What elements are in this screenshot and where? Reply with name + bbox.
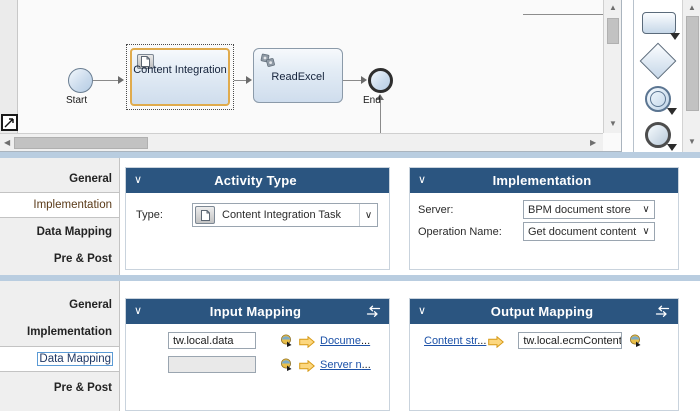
implementation-card-header[interactable]: ∨ Implementation	[410, 168, 678, 193]
diagram-canvas[interactable]: Start Content Integration	[18, 0, 603, 133]
operation-name-dropdown[interactable]: Get document content ∨	[523, 222, 655, 241]
implementation-title: Implementation	[434, 173, 650, 188]
chevron-down-icon[interactable]: ∨	[359, 204, 377, 226]
activity-type-card-header[interactable]: ∨ Activity Type	[126, 168, 389, 193]
output-mapping-row: Content str... tw.local.ecmContent	[424, 332, 644, 349]
chevron-down-icon[interactable]: ∨	[418, 175, 434, 186]
implementation-tab-list: General Implementation Data Mapping Pre …	[0, 158, 120, 275]
swap-arrows-icon[interactable]	[650, 305, 670, 318]
chevron-down-icon[interactable]: ∨	[134, 306, 150, 317]
diagram-canvas-container: Start Content Integration	[0, 0, 622, 152]
implementation-properties-panel: General Implementation Data Mapping Pre …	[0, 158, 700, 275]
palette-scrollbar[interactable]: ▲ ▼	[682, 0, 700, 152]
connector-ci-to-readexcel	[234, 80, 246, 81]
tab-pre-and-post[interactable]: Pre & Post	[0, 246, 119, 272]
tab-general[interactable]: General	[0, 166, 119, 192]
data-mapping-tab-list: General Implementation Data Mapping Pre …	[0, 281, 120, 411]
connector-arrow-readexcel	[246, 76, 252, 84]
connector-start-to-ci	[93, 80, 118, 81]
palette-gateway-shape[interactable]	[640, 43, 677, 80]
input-mapping-title: Input Mapping	[150, 304, 361, 319]
palette-task-caret-icon[interactable]	[670, 33, 680, 40]
palette-task-shape[interactable]	[642, 12, 676, 34]
data-mapping-properties-panel: General Implementation Data Mapping Pre …	[0, 281, 700, 411]
process-diagram-section: Start Content Integration	[0, 0, 700, 152]
connector-arrow-ci	[118, 76, 124, 84]
server-dropdown[interactable]: BPM document store ∨	[523, 200, 655, 219]
output-mapping-variable-field[interactable]: tw.local.ecmContent	[518, 332, 622, 349]
operation-name-value: Get document content	[524, 226, 638, 238]
variable-picker-icon[interactable]	[280, 334, 295, 348]
tab-general[interactable]: General	[0, 292, 119, 318]
canvas-horizontal-scrollbar[interactable]: ◀ ▶	[0, 133, 603, 151]
type-label: Type:	[136, 209, 192, 221]
chevron-down-icon[interactable]: ∨	[638, 204, 654, 215]
input-mapping-row: tw.local.data	[168, 332, 370, 349]
mapping-arrow-icon	[488, 335, 504, 347]
output-mapping-title: Output Mapping	[434, 304, 650, 319]
swap-arrows-icon[interactable]	[361, 305, 381, 318]
output-mapping-card: ∨ Output Mapping Content str...	[409, 298, 679, 411]
canvas-vertical-scrollbar[interactable]: ▲ ▼	[603, 0, 621, 133]
server-value: BPM document store	[524, 204, 638, 216]
scroll-left-arrow-icon[interactable]: ◀	[4, 139, 10, 147]
chevron-down-icon[interactable]: ∨	[638, 226, 654, 237]
tab-pre-and-post[interactable]: Pre & Post	[0, 375, 119, 401]
input-mapping-parameter-link[interactable]: Server n...	[320, 359, 371, 371]
activity-type-row: Type: Content Integration Task ∨	[136, 203, 378, 227]
content-integration-node-body: Content Integration	[130, 48, 230, 106]
scroll-right-arrow-icon[interactable]: ▶	[590, 139, 596, 147]
activity-type-card: ∨ Activity Type Type:	[125, 167, 390, 270]
canvas-vscroll-thumb[interactable]	[607, 18, 619, 44]
diagram-node-end[interactable]	[368, 68, 393, 93]
diagram-node-content-integration[interactable]: Content Integration	[126, 44, 234, 110]
shape-palette-items	[634, 0, 682, 152]
mapping-arrow-icon	[299, 335, 315, 347]
palette-scroll-thumb[interactable]	[686, 16, 699, 111]
application-window: Start Content Integration	[0, 0, 700, 411]
activity-type-dropdown[interactable]: Content Integration Task ∨	[192, 203, 378, 227]
scroll-up-arrow-icon[interactable]: ▲	[609, 4, 617, 12]
input-mapping-variable-field[interactable]	[168, 356, 256, 373]
shape-palette: ▲ ▼	[633, 0, 700, 152]
variable-picker-icon[interactable]	[280, 358, 295, 372]
connector-readexcel-to-end	[343, 80, 361, 81]
palette-intermediate-event-caret-icon[interactable]	[667, 108, 677, 115]
canvas-hscroll-thumb[interactable]	[14, 137, 148, 149]
implementation-card: ∨ Implementation Server: BPM document st…	[409, 167, 679, 270]
palette-scroll-down-icon[interactable]: ▼	[688, 138, 696, 146]
output-mapping-card-header[interactable]: ∨ Output Mapping	[410, 299, 678, 324]
input-mapping-row: Server n...	[168, 356, 371, 373]
variable-picker-icon[interactable]	[629, 334, 644, 348]
tab-implementation[interactable]: Implementation	[0, 319, 119, 345]
diagram-node-readexcel[interactable]: ReadExcel	[253, 48, 343, 103]
diagram-node-start-label: Start	[66, 95, 87, 106]
palette-end-event-caret-icon[interactable]	[667, 144, 677, 151]
palette-scroll-up-icon[interactable]: ▲	[688, 4, 696, 12]
input-mapping-card: ∨ Input Mapping tw.local.data	[125, 298, 390, 411]
tab-data-mapping[interactable]: Data Mapping	[0, 219, 119, 245]
data-mapping-panel-body: ∨ Input Mapping tw.local.data	[121, 281, 700, 411]
operation-name-label: Operation Name:	[418, 226, 523, 238]
connector-arrow-end	[361, 76, 367, 84]
mapping-arrow-icon	[299, 359, 315, 371]
activity-type-value: Content Integration Task	[217, 209, 359, 221]
chevron-down-icon[interactable]: ∨	[134, 175, 150, 186]
chevron-down-icon[interactable]: ∨	[418, 306, 434, 317]
input-mapping-card-header[interactable]: ∨ Input Mapping	[126, 299, 389, 324]
input-mapping-variable-field[interactable]: tw.local.data	[168, 332, 256, 349]
gear-icon	[260, 53, 278, 70]
activity-type-title: Activity Type	[150, 173, 361, 188]
implementation-panel-body: ∨ Activity Type Type:	[121, 158, 700, 275]
input-mapping-parameter-link[interactable]: Docume...	[320, 335, 370, 347]
scroll-down-arrow-icon[interactable]: ▼	[609, 120, 617, 128]
operation-name-row: Operation Name: Get document content ∨	[418, 222, 655, 241]
diagram-node-start[interactable]	[68, 68, 93, 93]
tab-data-mapping[interactable]: Data Mapping	[0, 346, 119, 372]
document-icon	[193, 204, 217, 226]
diagram-node-readexcel-label: ReadExcel	[254, 71, 342, 83]
server-label: Server:	[418, 204, 523, 216]
expand-diagram-icon[interactable]	[1, 114, 18, 131]
diagram-node-end-label: End	[363, 95, 381, 106]
detached-connector-line	[523, 14, 603, 15]
diagram-node-content-integration-label: Content Integration	[132, 64, 228, 77]
tab-implementation[interactable]: Implementation	[0, 192, 119, 218]
server-row: Server: BPM document store ∨	[418, 200, 655, 219]
output-mapping-parameter-link[interactable]: Content str...	[424, 335, 486, 347]
